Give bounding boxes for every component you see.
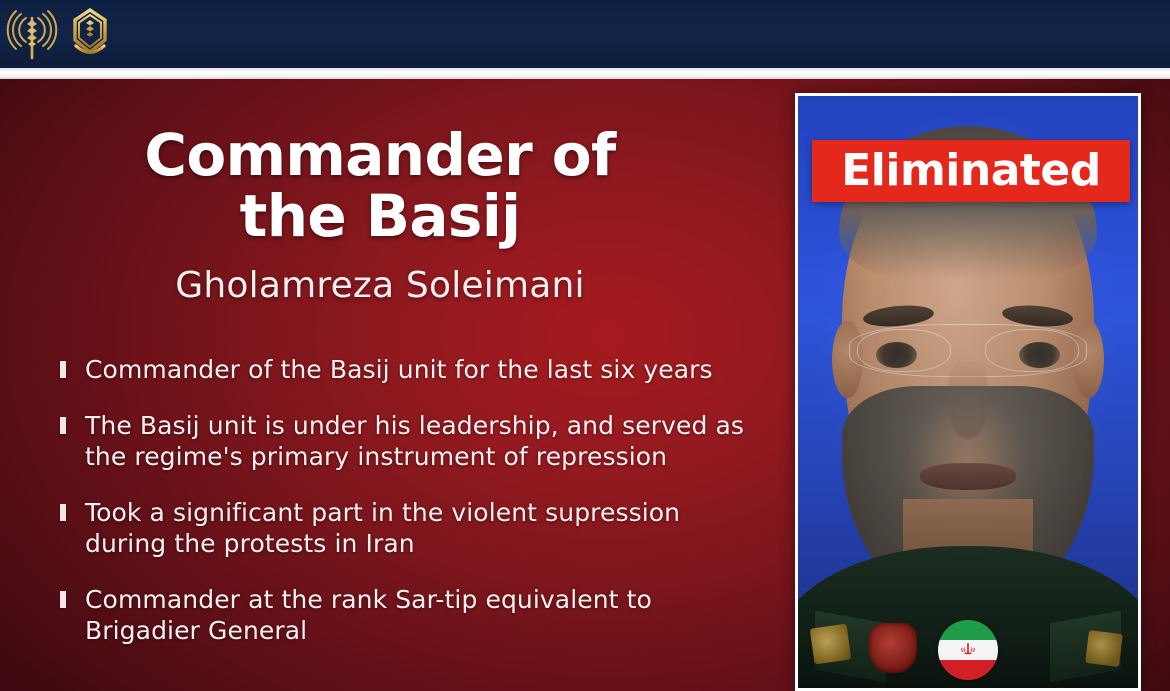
page-title-line-1: Commander of — [0, 125, 760, 186]
status-badge-label: Eliminated — [841, 149, 1101, 193]
iran-national-emblem-icon — [958, 640, 978, 660]
list-item: Took a significant part in the violent s… — [60, 497, 750, 560]
poster-root: Commander of the Basij Gholamreza Soleim… — [0, 0, 1170, 691]
header-divider — [0, 68, 1170, 79]
bullet-marker-icon — [60, 591, 66, 608]
bullet-list: Commander of the Basij unit for the last… — [60, 354, 750, 671]
flag-stripe-green — [938, 620, 998, 640]
list-item-text: Took a significant part in the violent s… — [85, 497, 750, 560]
portrait-mouth — [920, 463, 1015, 490]
page-title: Commander of the Basij — [0, 125, 760, 248]
status-badge: Eliminated — [812, 140, 1130, 202]
list-item: Commander at the rank Sar-tip equivalent… — [60, 584, 750, 647]
list-item-text: The Basij unit is under his leadership, … — [85, 410, 750, 473]
list-item-text: Commander at the rank Sar-tip equivalent… — [85, 584, 750, 647]
portrait-rank-insignia-right — [1085, 630, 1123, 666]
portrait-rank-insignia-left — [809, 623, 851, 663]
idf-insignia-emblem — [64, 6, 116, 62]
list-item: Commander of the Basij unit for the last… — [60, 354, 750, 386]
portrait-unit-badge — [869, 623, 917, 673]
header-bar — [0, 0, 1170, 68]
bullet-marker-icon — [60, 417, 66, 434]
bullet-marker-icon — [60, 361, 66, 378]
subject-name: Gholamreza Soleimani — [0, 265, 760, 306]
page-title-line-2: the Basij — [0, 186, 760, 247]
header-emblems — [6, 6, 116, 62]
text-column: Commander of the Basij Gholamreza Soleim… — [0, 79, 770, 691]
flag-stripe-red — [938, 660, 998, 680]
bullet-marker-icon — [60, 504, 66, 521]
list-item-text: Commander of the Basij unit for the last… — [85, 354, 713, 386]
iran-flag-roundel-icon — [938, 620, 998, 680]
list-item: The Basij unit is under his leadership, … — [60, 410, 750, 473]
idf-spokesperson-broadcast-emblem — [6, 6, 58, 62]
